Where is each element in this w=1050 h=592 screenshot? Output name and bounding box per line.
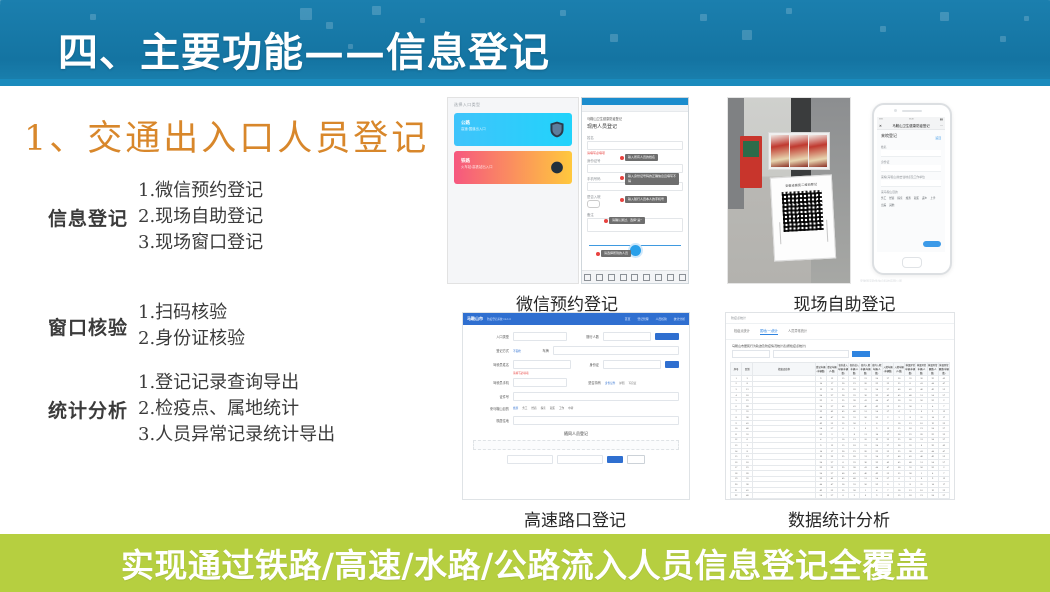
daterange-input[interactable] bbox=[773, 350, 849, 358]
photo-onsite-qrcode-stand: 安徽省居民二维码登记 bbox=[727, 97, 851, 284]
caption-highway: 高速路口登记 bbox=[462, 506, 688, 531]
form-row: 驾驶员手机 是否持有 身份证件 护照 军官证 bbox=[473, 378, 679, 387]
qrcode-standing-board: 安徽省居民二维码登记 bbox=[770, 174, 836, 261]
wall-poster bbox=[768, 132, 830, 170]
search-icon[interactable] bbox=[620, 274, 627, 281]
statistics-table: 序号区划检疫点名称登记车辆(车辆数)登记车辆(人数)省外进入车辆(车辆数)省外进… bbox=[730, 362, 950, 500]
id-input[interactable] bbox=[603, 360, 661, 369]
tab-bar[interactable]: 检疫点统计 属地(一)统计 人员异常统计 bbox=[726, 324, 954, 340]
group-items: 1.登记记录查询导出 2.检疫点、属地统计 3.人员异常记录统计导出 bbox=[138, 370, 335, 448]
list-item: 1.扫码核验 bbox=[138, 300, 245, 326]
table-col-header: 序号 bbox=[731, 363, 742, 376]
idcard-input[interactable] bbox=[881, 165, 941, 172]
radio-option[interactable]: 旅游 bbox=[906, 196, 911, 200]
list-item: 1.登记记录查询导出 bbox=[138, 370, 335, 396]
field-label-purpose: 来马鞍山目的 bbox=[881, 190, 941, 194]
blur-icon[interactable] bbox=[608, 274, 615, 281]
table-wrap: 序号区划检疫点名称登记车辆(车辆数)登记车辆(人数)省外进入车辆(车辆数)省外进… bbox=[726, 362, 954, 500]
screenshot-data-statistics-table: 防疫点统计 检疫点统计 属地(一)统计 人员异常统计 马鞍山市居民行为轨迹及防疫… bbox=[725, 312, 955, 500]
radio-option[interactable]: 经商 bbox=[531, 406, 536, 410]
radio-option[interactable]: 探亲 bbox=[897, 196, 902, 200]
driver-phone-input[interactable] bbox=[513, 378, 567, 387]
crop-icon[interactable] bbox=[584, 274, 591, 281]
radio-option[interactable]: 出差 bbox=[881, 203, 886, 207]
home-button[interactable] bbox=[902, 257, 922, 268]
form-row: 登记方式 不需检 车牌 bbox=[473, 346, 679, 355]
radio-option[interactable]: 经商 bbox=[889, 196, 894, 200]
radio-option[interactable]: 就医 bbox=[914, 196, 919, 200]
app-logo: 马鞍山市 bbox=[467, 316, 483, 322]
app-subtitle: 防疫登记系统 v4.2.11 bbox=[487, 317, 511, 321]
table-col-header: 入皖车辆(车辆数) bbox=[882, 363, 893, 376]
list-item: 3.人员异常记录统计导出 bbox=[138, 422, 335, 448]
radio-option[interactable]: 不需检 bbox=[513, 349, 521, 353]
form-page-title: 来皖登记 bbox=[881, 133, 897, 139]
callout-dot bbox=[596, 252, 600, 256]
group-label: 统计分析 bbox=[24, 396, 128, 423]
callout-dot bbox=[620, 156, 624, 160]
table-header-row: 序号区划检疫点名称登记车辆(车辆数)登记车辆(人数)省外进入车辆(车辆数)省外进… bbox=[731, 363, 950, 376]
callout-note: 请选择所到的人员 bbox=[601, 250, 631, 257]
nav-bar: ✕ 马鞍山卫生健康防疫登记 ··· bbox=[877, 122, 945, 130]
page-title: 防疫点统计 bbox=[726, 313, 954, 324]
point-select[interactable] bbox=[557, 455, 603, 464]
caption-stats: 数据统计分析 bbox=[725, 506, 953, 531]
table-cell: 32 bbox=[938, 499, 949, 500]
mobile-list-header: 选择入口类型 bbox=[448, 98, 578, 111]
driver-name-input[interactable] bbox=[513, 360, 571, 369]
tab-home[interactable]: 首页 bbox=[625, 317, 631, 321]
undo-icon[interactable] bbox=[667, 274, 674, 281]
group-label: 窗口核验 bbox=[24, 313, 128, 340]
callout-dot bbox=[620, 198, 624, 202]
list-item: 2.身份证核验 bbox=[138, 326, 245, 352]
form-nav-title: 马鞍山卫生健康防疫登记 bbox=[587, 116, 683, 121]
slide: 四、主要功能——信息登记 1、交通出入口人员登记 信息登记 1.微信预约登记 2… bbox=[0, 0, 1050, 592]
zoom-icon[interactable] bbox=[643, 274, 650, 281]
table-cell: 53 bbox=[742, 499, 753, 500]
bottom-banner: 实现通过铁路/高速/水路/公路流入人员信息登记全覆盖 bbox=[0, 534, 1050, 592]
table-cell bbox=[753, 499, 815, 500]
group-items: 1.微信预约登记 2.现场自助登记 3.现场窗口登记 bbox=[138, 178, 263, 256]
more-icon[interactable]: ··· bbox=[940, 124, 943, 128]
form-page-title: 现用人员登记 bbox=[587, 123, 683, 130]
tab-abnormal[interactable]: 人员异常统计 bbox=[788, 328, 807, 335]
copy-icon[interactable] bbox=[655, 274, 662, 281]
form-row: 驾驶员姓名 身份证 bbox=[473, 360, 679, 369]
watermark: 安徽国宇软件信息科技有限公司 bbox=[860, 279, 902, 282]
callout-dot bbox=[604, 219, 608, 223]
field-label-idcard: 身份证 bbox=[881, 160, 941, 164]
form-row: 证件号 bbox=[473, 392, 679, 401]
field-label-reg-method: 登记方式 bbox=[473, 348, 509, 353]
tab-verify[interactable]: 人员核验 bbox=[656, 317, 667, 321]
radio-option[interactable]: 护照 bbox=[619, 381, 624, 385]
screenshot-highway-registration-form: 马鞍山市 防疫登记系统 v4.2.11 首页 登记管理 人员核验 统计分析 入口… bbox=[462, 312, 690, 500]
table-col-header: 体温异常隔离(人数) bbox=[927, 363, 938, 376]
form-row: 现居住地 bbox=[473, 416, 679, 425]
list-item: 2.现场自助登记 bbox=[138, 204, 263, 230]
list-item: 2.检疫点、属地统计 bbox=[138, 396, 335, 422]
app-header: 马鞍山市 防疫登记系统 v4.2.11 首页 登记管理 人员核验 统计分析 bbox=[463, 313, 689, 325]
feature-group-verify: 窗口核验 1.扫码核验 2.身份证核验 bbox=[24, 300, 245, 352]
pen-icon[interactable] bbox=[631, 274, 638, 281]
field-label-cert-no: 证件号 bbox=[473, 394, 509, 399]
reset-button[interactable] bbox=[627, 455, 645, 464]
radio-option[interactable]: 身份证件 bbox=[605, 381, 615, 385]
screenshot-mobile-entry-list: 选择入口类型 公路 高速/国道出入口 铁路 火车站/高铁站出入口 bbox=[447, 97, 579, 284]
table-cell: 11 bbox=[860, 499, 871, 500]
group-label: 信息登记 bbox=[24, 204, 128, 231]
idcard-input[interactable] bbox=[587, 164, 683, 173]
field-label-id: 身份证 bbox=[575, 362, 599, 367]
table-cell: 23 bbox=[731, 499, 742, 500]
next-step-button[interactable] bbox=[923, 241, 941, 247]
query-controls[interactable] bbox=[726, 350, 954, 362]
callout-note: 输入随行人员本人的手机号 bbox=[625, 196, 667, 203]
group-items: 1.扫码核验 2.身份证核验 bbox=[138, 300, 245, 352]
field-label-driver-phone: 驾驶员手机 bbox=[473, 380, 509, 385]
qr-code-icon bbox=[782, 190, 824, 232]
table-cell: 17 bbox=[882, 499, 893, 500]
field-label-driver: 驾驶员姓名 bbox=[473, 362, 509, 367]
table-body: 1391215182124273033363942281417202326293… bbox=[731, 376, 950, 501]
form-footer bbox=[473, 455, 679, 464]
shield-icon bbox=[549, 121, 565, 138]
entry-card-rail[interactable]: 铁路 火车站/高铁站出入口 bbox=[454, 151, 572, 184]
table-row[interactable]: 2353592581114172023262932 bbox=[731, 499, 950, 500]
app-tabs[interactable]: 首页 登记管理 人员核验 统计分析 bbox=[625, 317, 685, 321]
board-leg bbox=[826, 220, 828, 242]
radio-option[interactable]: 返乡 bbox=[922, 196, 927, 200]
feature-group-info: 信息登记 1.微信预约登记 2.现场自助登记 3.现场窗口登记 bbox=[24, 178, 263, 256]
browser-toolbar bbox=[582, 105, 688, 112]
radio-option[interactable]: 务工 bbox=[522, 406, 527, 410]
radio-option[interactable]: 务工 bbox=[881, 196, 886, 200]
slide-header: 四、主要功能——信息登记 bbox=[0, 0, 1050, 86]
field-error: 请填写必填项 bbox=[513, 371, 529, 375]
table-col-header: 登记车辆(人数) bbox=[826, 363, 837, 376]
entry-card-road[interactable]: 公路 高速/国道出入口 bbox=[454, 113, 572, 146]
table-cell: 29 bbox=[927, 499, 938, 500]
tab-stats[interactable]: 统计分析 bbox=[674, 317, 685, 321]
field-label-companions: 随行人数 bbox=[571, 334, 599, 339]
clock-label: ••:•• bbox=[909, 118, 913, 121]
section-title: 随同人员登记 bbox=[473, 431, 679, 437]
phone-frame: ••••••:••▮▮ ✕ 马鞍山卫生健康防疫登记 ··· 来皖登记 返回 姓名… bbox=[872, 103, 952, 275]
radio-option[interactable]: 中转 bbox=[568, 406, 573, 410]
save-button[interactable] bbox=[607, 456, 623, 463]
phone-screen: ••••••:••▮▮ ✕ 马鞍山卫生健康防疫登记 ··· 来皖登记 返回 姓名… bbox=[877, 117, 945, 252]
add-companion-button[interactable] bbox=[655, 333, 679, 340]
callout-note: 输入身份证号码的正确信息且填写不得 bbox=[625, 173, 679, 185]
field-label-purpose: 来马鞍山目的 bbox=[473, 406, 509, 411]
companions-input[interactable] bbox=[603, 332, 651, 341]
radio-option[interactable]: 上学 bbox=[930, 196, 935, 200]
table-cell: 5 bbox=[838, 499, 849, 500]
table-col-header: 省外进入车辆(人数) bbox=[849, 363, 860, 376]
verify-button[interactable] bbox=[665, 361, 679, 368]
search-button[interactable] bbox=[852, 351, 870, 357]
form-body: 马鞍山卫生健康防疫登记 现用人员登记 姓名 请填写必填项 身份证号 手机号码 是… bbox=[582, 112, 688, 282]
purpose-radio-group[interactable]: 务工 经商 探亲 旅游 就医 返乡 上学 出差 其他 bbox=[881, 196, 941, 207]
date-select[interactable] bbox=[507, 455, 553, 464]
table-cell: 20 bbox=[894, 499, 905, 500]
section-title: 1、交通出入口人员登记 bbox=[24, 110, 429, 161]
camera-icon bbox=[894, 109, 897, 112]
tab-registration[interactable]: 登记管理 bbox=[637, 317, 648, 321]
speaker-grille bbox=[902, 110, 922, 112]
scissors-icon[interactable] bbox=[596, 274, 603, 281]
field-label-name: 姓名 bbox=[881, 145, 941, 149]
table-col-header: 体温异常车辆(车辆数) bbox=[905, 363, 916, 376]
board-title: 安徽省居民二维码登记 bbox=[771, 181, 831, 188]
table-cell: 2 bbox=[826, 499, 837, 500]
close-icon[interactable]: ✕ bbox=[879, 124, 882, 128]
feature-group-stats: 统计分析 1.登记记录查询导出 2.检疫点、属地统计 3.人员异常记录统计导出 bbox=[24, 370, 335, 448]
field-label-plate: 车牌 bbox=[525, 348, 549, 353]
checkpoint-select[interactable] bbox=[732, 350, 770, 358]
battery-icon: ▮▮ bbox=[940, 118, 943, 121]
form-row: 来马鞍山目的 旅游 务工 经商 探亲 就医 工作 中转 bbox=[473, 406, 679, 411]
field-label-origin: 来皖(马鞍山)前去往地点及工作单位 bbox=[881, 175, 941, 179]
residence-input[interactable] bbox=[513, 416, 679, 425]
origin-input[interactable] bbox=[881, 180, 941, 187]
tab-territory[interactable]: 属地(一)统计 bbox=[760, 328, 778, 335]
list-item: 3.现场窗口登记 bbox=[138, 230, 263, 256]
field-label-has-cert: 是否持有 bbox=[571, 380, 601, 385]
radio-option[interactable]: 探亲 bbox=[541, 406, 546, 410]
save-icon[interactable] bbox=[679, 274, 686, 281]
radio-option[interactable]: 旅游 bbox=[513, 406, 518, 410]
vending-machine bbox=[740, 136, 762, 188]
radio-option[interactable]: 其他 bbox=[889, 203, 894, 207]
editor-toolbar[interactable] bbox=[582, 270, 688, 283]
field-label-residence: 现居住地 bbox=[473, 418, 509, 423]
table-col-header: 省内入皖车辆(人数) bbox=[871, 363, 882, 376]
form-row: 入口类型 随行人数 bbox=[473, 332, 679, 341]
table-cell: 8 bbox=[849, 499, 860, 500]
radio-option[interactable]: 工作 bbox=[559, 406, 564, 410]
window-titlebar bbox=[582, 98, 688, 105]
table-col-header: 体温异常隔离(车辆数) bbox=[938, 363, 949, 376]
add-companion-row[interactable] bbox=[473, 440, 679, 450]
form-content: 来皖登记 返回 姓名 身份证 来皖(马鞍山)前去往地点及工作单位 来马鞍山目的 … bbox=[877, 130, 945, 210]
cert-no-input[interactable] bbox=[513, 392, 679, 401]
plate-input[interactable] bbox=[553, 346, 679, 355]
screenshot-wechat-form: 马鞍山卫生健康防疫登记 现用人员登记 姓名 请填写必填项 身份证号 手机号码 是… bbox=[581, 97, 689, 284]
banner-text: 实现通过铁路/高速/水路/公路流入人员信息登记全覆盖 bbox=[121, 539, 929, 587]
screenshot-phone-mockup: ••••••:••▮▮ ✕ 马鞍山卫生健康防疫登记 ··· 来皖登记 返回 姓名… bbox=[858, 97, 962, 282]
page-title: 四、主要功能——信息登记 bbox=[58, 20, 550, 78]
name-input[interactable] bbox=[587, 141, 683, 150]
callout-note: 请确认通过、选择“是” bbox=[609, 217, 645, 224]
table-col-header: 省内入皖车辆(车辆数) bbox=[860, 363, 871, 376]
field-label-name: 姓名 bbox=[587, 135, 683, 140]
callout-note: 输入所有人员的姓名 bbox=[625, 154, 658, 161]
table-cell: 59 bbox=[815, 499, 826, 500]
list-item: 1.微信预约登记 bbox=[138, 178, 263, 204]
table-col-header: 省外进入车辆(车辆数) bbox=[838, 363, 849, 376]
table-col-header: 登记车辆(车辆数) bbox=[815, 363, 826, 376]
radio-option[interactable]: 就医 bbox=[550, 406, 555, 410]
table-col-header: 检疫点名称 bbox=[753, 363, 815, 376]
field-label-entry-type: 入口类型 bbox=[473, 334, 509, 339]
table-col-header: 入皖车辆(人数) bbox=[894, 363, 905, 376]
carrier-label: •••• bbox=[879, 118, 883, 121]
table-col-header: 体温异常车辆(人数) bbox=[916, 363, 927, 376]
table-cell: 26 bbox=[916, 499, 927, 500]
table-col-header: 区划 bbox=[742, 363, 753, 376]
tab-checkpoint[interactable]: 检疫点统计 bbox=[734, 328, 750, 335]
board-leg bbox=[779, 222, 781, 244]
radio-option[interactable]: 军官证 bbox=[629, 381, 637, 385]
train-icon bbox=[549, 159, 565, 176]
callout-dot bbox=[620, 176, 624, 180]
query-title: 马鞍山市居民行为轨迹及防疫情况统计表(按检疫点统计) bbox=[726, 340, 954, 350]
table-cell: 23 bbox=[905, 499, 916, 500]
nav-title: 马鞍山卫生健康防疫登记 bbox=[892, 123, 929, 128]
entry-type-select[interactable] bbox=[513, 332, 567, 341]
form-area: 入口类型 随行人数 登记方式 不需检 车牌 驾驶员姓名 身份证 请填写必填项 bbox=[463, 325, 689, 471]
back-link[interactable]: 返回 bbox=[935, 136, 941, 140]
table-cell: 14 bbox=[871, 499, 882, 500]
name-input[interactable] bbox=[881, 150, 941, 157]
entered-toggle[interactable] bbox=[587, 200, 600, 208]
